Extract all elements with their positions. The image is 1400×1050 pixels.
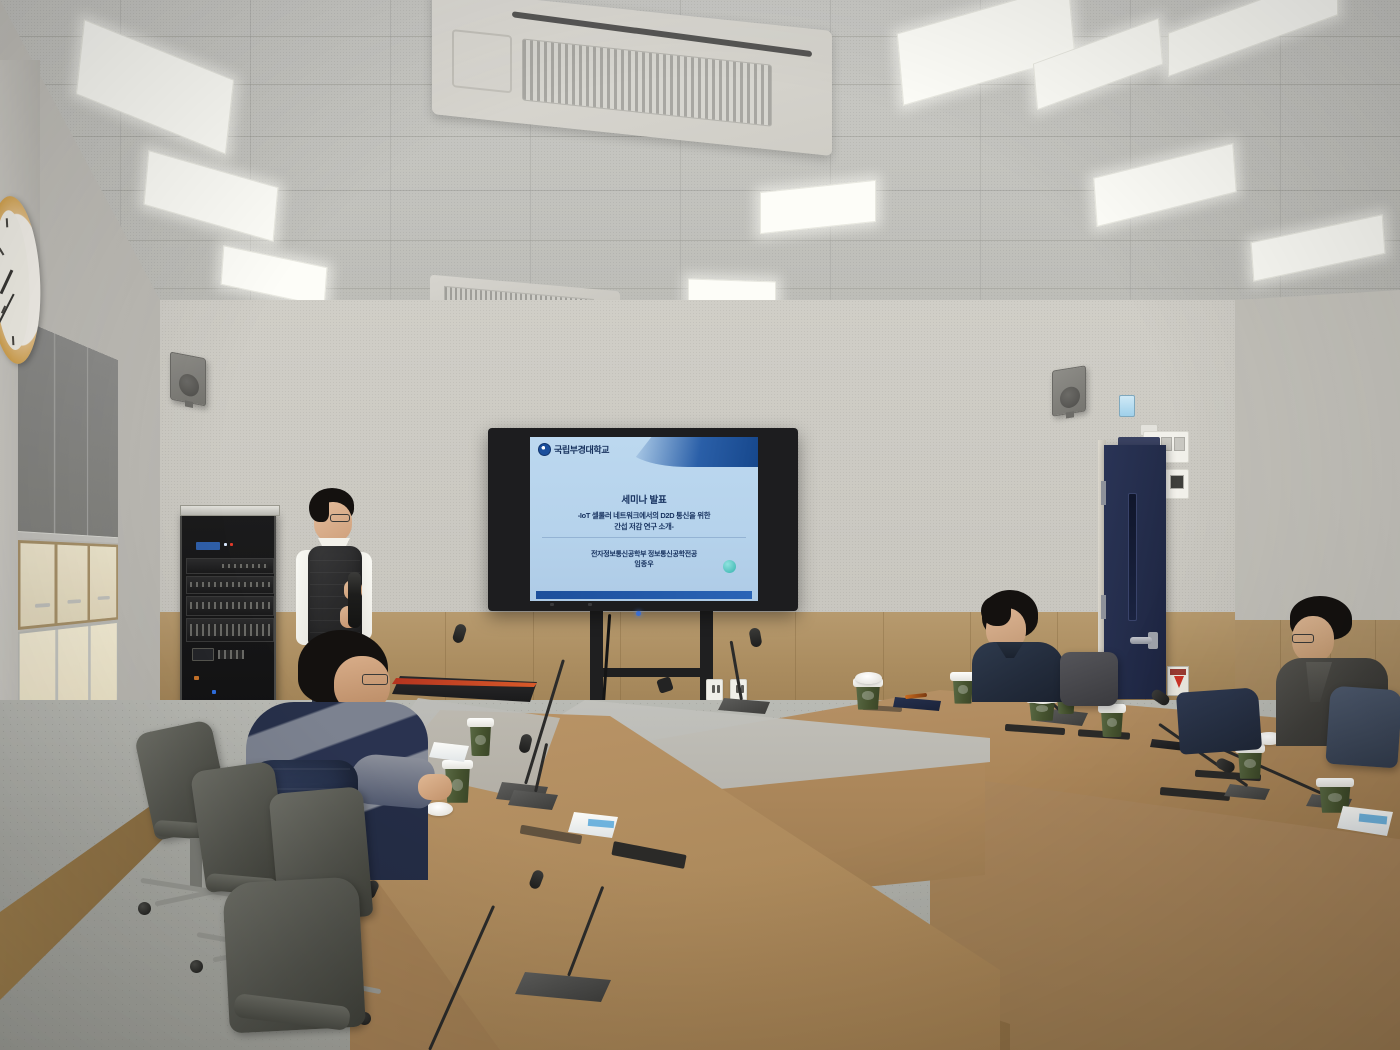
office-chair[interactable]: [226, 880, 376, 1050]
gooseneck-microphone[interactable]: [508, 738, 558, 810]
gooseneck-microphone[interactable]: [718, 632, 770, 714]
wall-speaker: [170, 352, 206, 407]
office-chair[interactable]: [1328, 688, 1400, 784]
presenter-glasses: [330, 514, 350, 522]
slide-author: 임종우: [538, 559, 750, 569]
slide-accent-dot: [723, 560, 736, 573]
emergency-exit-light-icon: [1119, 395, 1135, 417]
office-chair[interactable]: [1060, 652, 1120, 712]
gooseneck-microphone[interactable]: [515, 872, 611, 1002]
cup-lid: [855, 672, 882, 684]
wall-speaker: [1052, 365, 1086, 416]
window-upper-sash: [18, 540, 118, 630]
door-handle[interactable]: [1130, 637, 1152, 644]
backpack: [1176, 687, 1262, 755]
seminar-room-photo: 국립부경대학교 세미나 발표 -IoT 셀룰러 네트워크에서의 D2D 통신을 …: [0, 0, 1400, 1050]
attendee-center: [972, 590, 1064, 700]
display-stand-leg: [590, 611, 603, 707]
coffee-cup: [952, 672, 974, 704]
display-screen: 국립부경대학교 세미나 발표 -IoT 셀룰러 네트워크에서의 D2D 통신을 …: [530, 437, 758, 601]
display-power-led: [636, 611, 641, 616]
attendee-hand: [418, 774, 452, 800]
door-vision-panel: [1128, 493, 1137, 621]
slide-subtitle-line-1: -IoT 셀룰러 네트워크에서의 D2D 통신을 위한: [578, 511, 711, 520]
slide-affiliation: 전자정보통신공학부 정보통신공학전공: [538, 549, 750, 559]
attendee-glasses: [1292, 634, 1314, 643]
display-stand-crossbar: [596, 668, 706, 677]
university-logo: 국립부경대학교: [538, 443, 609, 456]
slide-title: 세미나 발표: [530, 492, 758, 506]
slide-subtitle: -IoT 셀룰러 네트워크에서의 D2D 통신을 위한 간섭 저감 연구 소개-: [540, 511, 748, 532]
handheld-microphone: [348, 572, 361, 628]
slide-subtitle-line-2: 간섭 저감 연구 소개-: [614, 522, 673, 531]
university-logo-text: 국립부경대학교: [554, 443, 609, 456]
coffee-cup: [469, 718, 492, 758]
attendee-glasses: [362, 674, 388, 685]
slide-divider: [542, 537, 746, 538]
university-emblem-icon: [538, 443, 551, 456]
presentation-display[interactable]: 국립부경대학교 세미나 발표 -IoT 셀룰러 네트워크에서의 D2D 통신을 …: [488, 428, 798, 611]
presenter-hair-side: [309, 494, 329, 522]
slide-footer-bar: [536, 591, 752, 599]
slide-header-graphic: [628, 437, 758, 467]
attendee-hair-fringe: [981, 596, 1011, 626]
presentation-slide: 국립부경대학교 세미나 발표 -IoT 셀룰러 네트워크에서의 D2D 통신을 …: [530, 437, 758, 601]
